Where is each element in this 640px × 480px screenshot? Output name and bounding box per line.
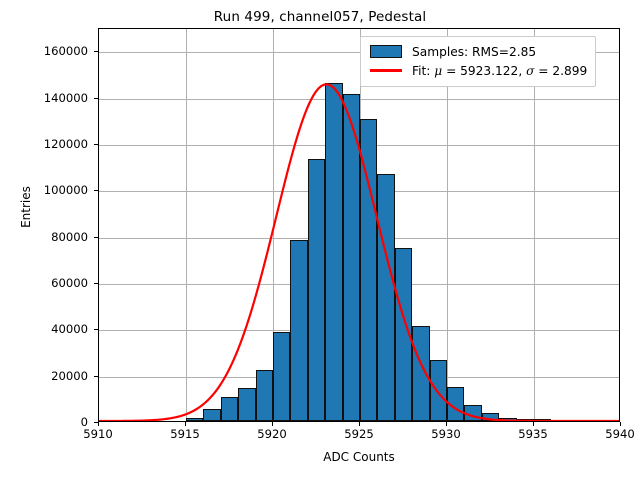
y-tick-label: 140000 bbox=[0, 91, 88, 105]
x-tick-label: 5935 bbox=[518, 427, 548, 441]
x-axis-label: ADC Counts bbox=[98, 450, 620, 464]
y-tick-label: 120000 bbox=[0, 137, 88, 151]
x-tick-label: 5940 bbox=[605, 427, 635, 441]
sigma-value: = 2.899 bbox=[534, 64, 587, 78]
page-title: Run 499, channel057, Pedestal bbox=[0, 9, 640, 25]
x-tick-mark bbox=[98, 422, 99, 426]
y-tick-label: 100000 bbox=[0, 183, 88, 197]
y-axis-label: Entries bbox=[19, 137, 33, 277]
x-tick-label: 5920 bbox=[257, 427, 287, 441]
x-tick-mark bbox=[185, 422, 186, 426]
x-tick-label: 5925 bbox=[344, 427, 374, 441]
x-tick-mark bbox=[359, 422, 360, 426]
y-tick-label: 20000 bbox=[0, 369, 88, 383]
x-tick-label: 5930 bbox=[431, 427, 461, 441]
y-tick-label: 0 bbox=[0, 415, 88, 429]
legend-item-label: Fit: μ = 5923.122, σ = 2.899 bbox=[412, 64, 587, 78]
legend-item-samples: Samples: RMS=2.85 bbox=[369, 42, 587, 61]
legend-item-label: Samples: RMS=2.85 bbox=[412, 45, 536, 59]
mu-value: = 5923.122, bbox=[442, 64, 526, 78]
legend-line-swatch-icon bbox=[369, 64, 403, 78]
x-tick-mark bbox=[446, 422, 447, 426]
x-tick-mark bbox=[533, 422, 534, 426]
y-tick-label: 60000 bbox=[0, 276, 88, 290]
figure-canvas: Run 499, channel057, Pedestal 0200004000… bbox=[0, 0, 640, 480]
x-tick-mark bbox=[620, 422, 621, 426]
plot-area bbox=[98, 28, 620, 422]
x-tick-mark bbox=[272, 422, 273, 426]
y-tick-label-group: 0200004000060000800001000001200001400001… bbox=[0, 0, 88, 480]
legend-fit-prefix: Fit: bbox=[412, 64, 434, 78]
legend-item-fit: Fit: μ = 5923.122, σ = 2.899 bbox=[369, 61, 587, 80]
gaussian-fit-curve bbox=[99, 29, 619, 421]
y-tick-label: 40000 bbox=[0, 322, 88, 336]
y-tick-label: 80000 bbox=[0, 230, 88, 244]
y-tick-label: 160000 bbox=[0, 44, 88, 58]
legend-bar-swatch-icon bbox=[369, 45, 403, 59]
x-tick-label: 5910 bbox=[83, 427, 113, 441]
x-tick-label: 5915 bbox=[170, 427, 200, 441]
mu-symbol: μ bbox=[434, 64, 442, 78]
legend: Samples: RMS=2.85 Fit: μ = 5923.122, σ =… bbox=[360, 36, 596, 87]
